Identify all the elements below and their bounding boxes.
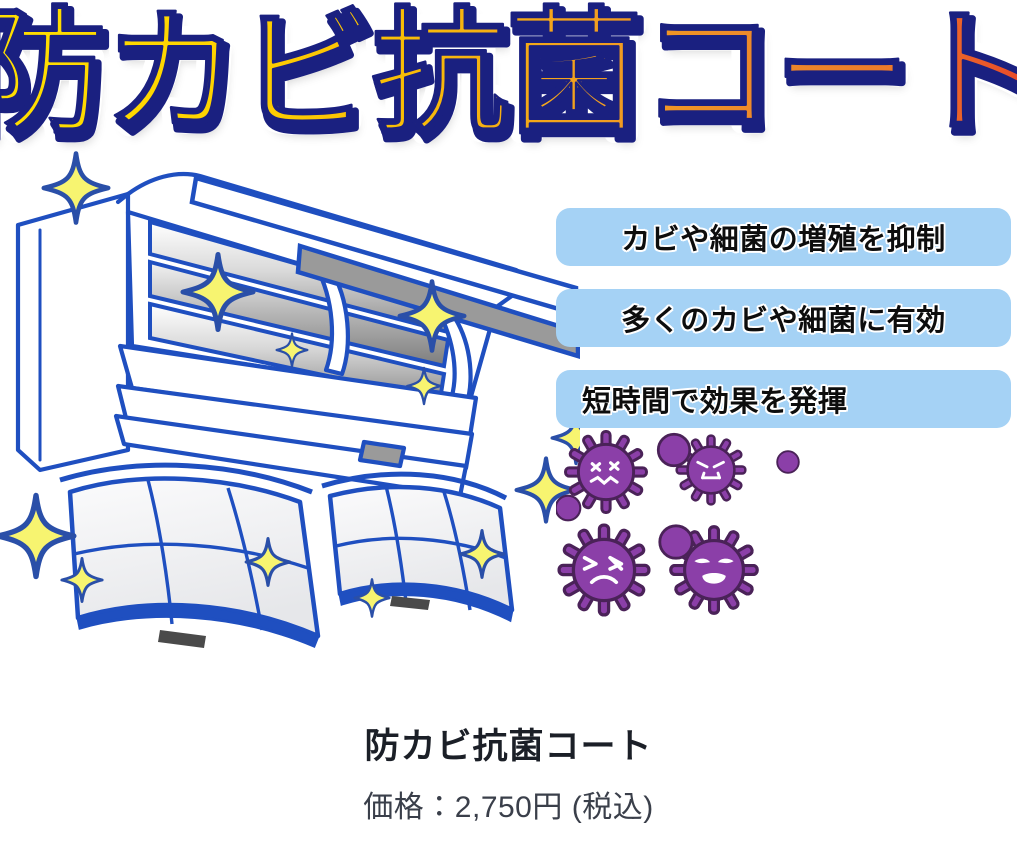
hero-title-text: 防カビ抗菌コート	[0, 0, 1017, 153]
ac-filter-panel-left	[60, 465, 318, 648]
germ-plain-small	[658, 434, 690, 466]
feature-badge-3-label: 短時間で効果を発揮	[582, 378, 848, 420]
germ-plain-edge	[556, 496, 580, 521]
feature-badge-2: 多くのカビや細菌に有効	[556, 289, 1011, 347]
germ-squint-frown	[559, 525, 649, 615]
feature-badge-1-label: カビや細菌の増殖を抑制	[621, 216, 946, 258]
product-price: 価格：2,750円 (税込)	[0, 790, 1017, 826]
sparkle-icon	[0, 496, 74, 577]
feature-badge-list: カビや細菌の増殖を抑制 多くのカビや細菌に有効 短時間で効果を発揮	[556, 208, 1011, 451]
hero-title-banner: 防カビ抗菌コート 防カビ抗菌コート 防カビ抗菌コート 防カビ抗菌コート	[0, 0, 1017, 175]
feature-badge-1: カビや細菌の増殖を抑制	[556, 208, 1011, 266]
feature-badge-2-label: 多くのカビや細菌に有効	[621, 297, 946, 339]
germ-plain-mid	[660, 526, 692, 558]
advertisement-page: 防カビ抗菌コート 防カビ抗菌コート 防カビ抗菌コート 防カビ抗菌コート	[0, 0, 1017, 863]
product-caption: 防カビ抗菌コート 価格：2,750円 (税込)	[0, 726, 1017, 826]
germ-plain-tiny	[777, 451, 799, 473]
air-conditioner-illustration	[0, 150, 580, 660]
feature-badge-3: 短時間で効果を発揮	[556, 370, 1011, 428]
product-title: 防カビ抗菌コート	[0, 726, 1017, 768]
germ-character-group	[556, 430, 816, 640]
